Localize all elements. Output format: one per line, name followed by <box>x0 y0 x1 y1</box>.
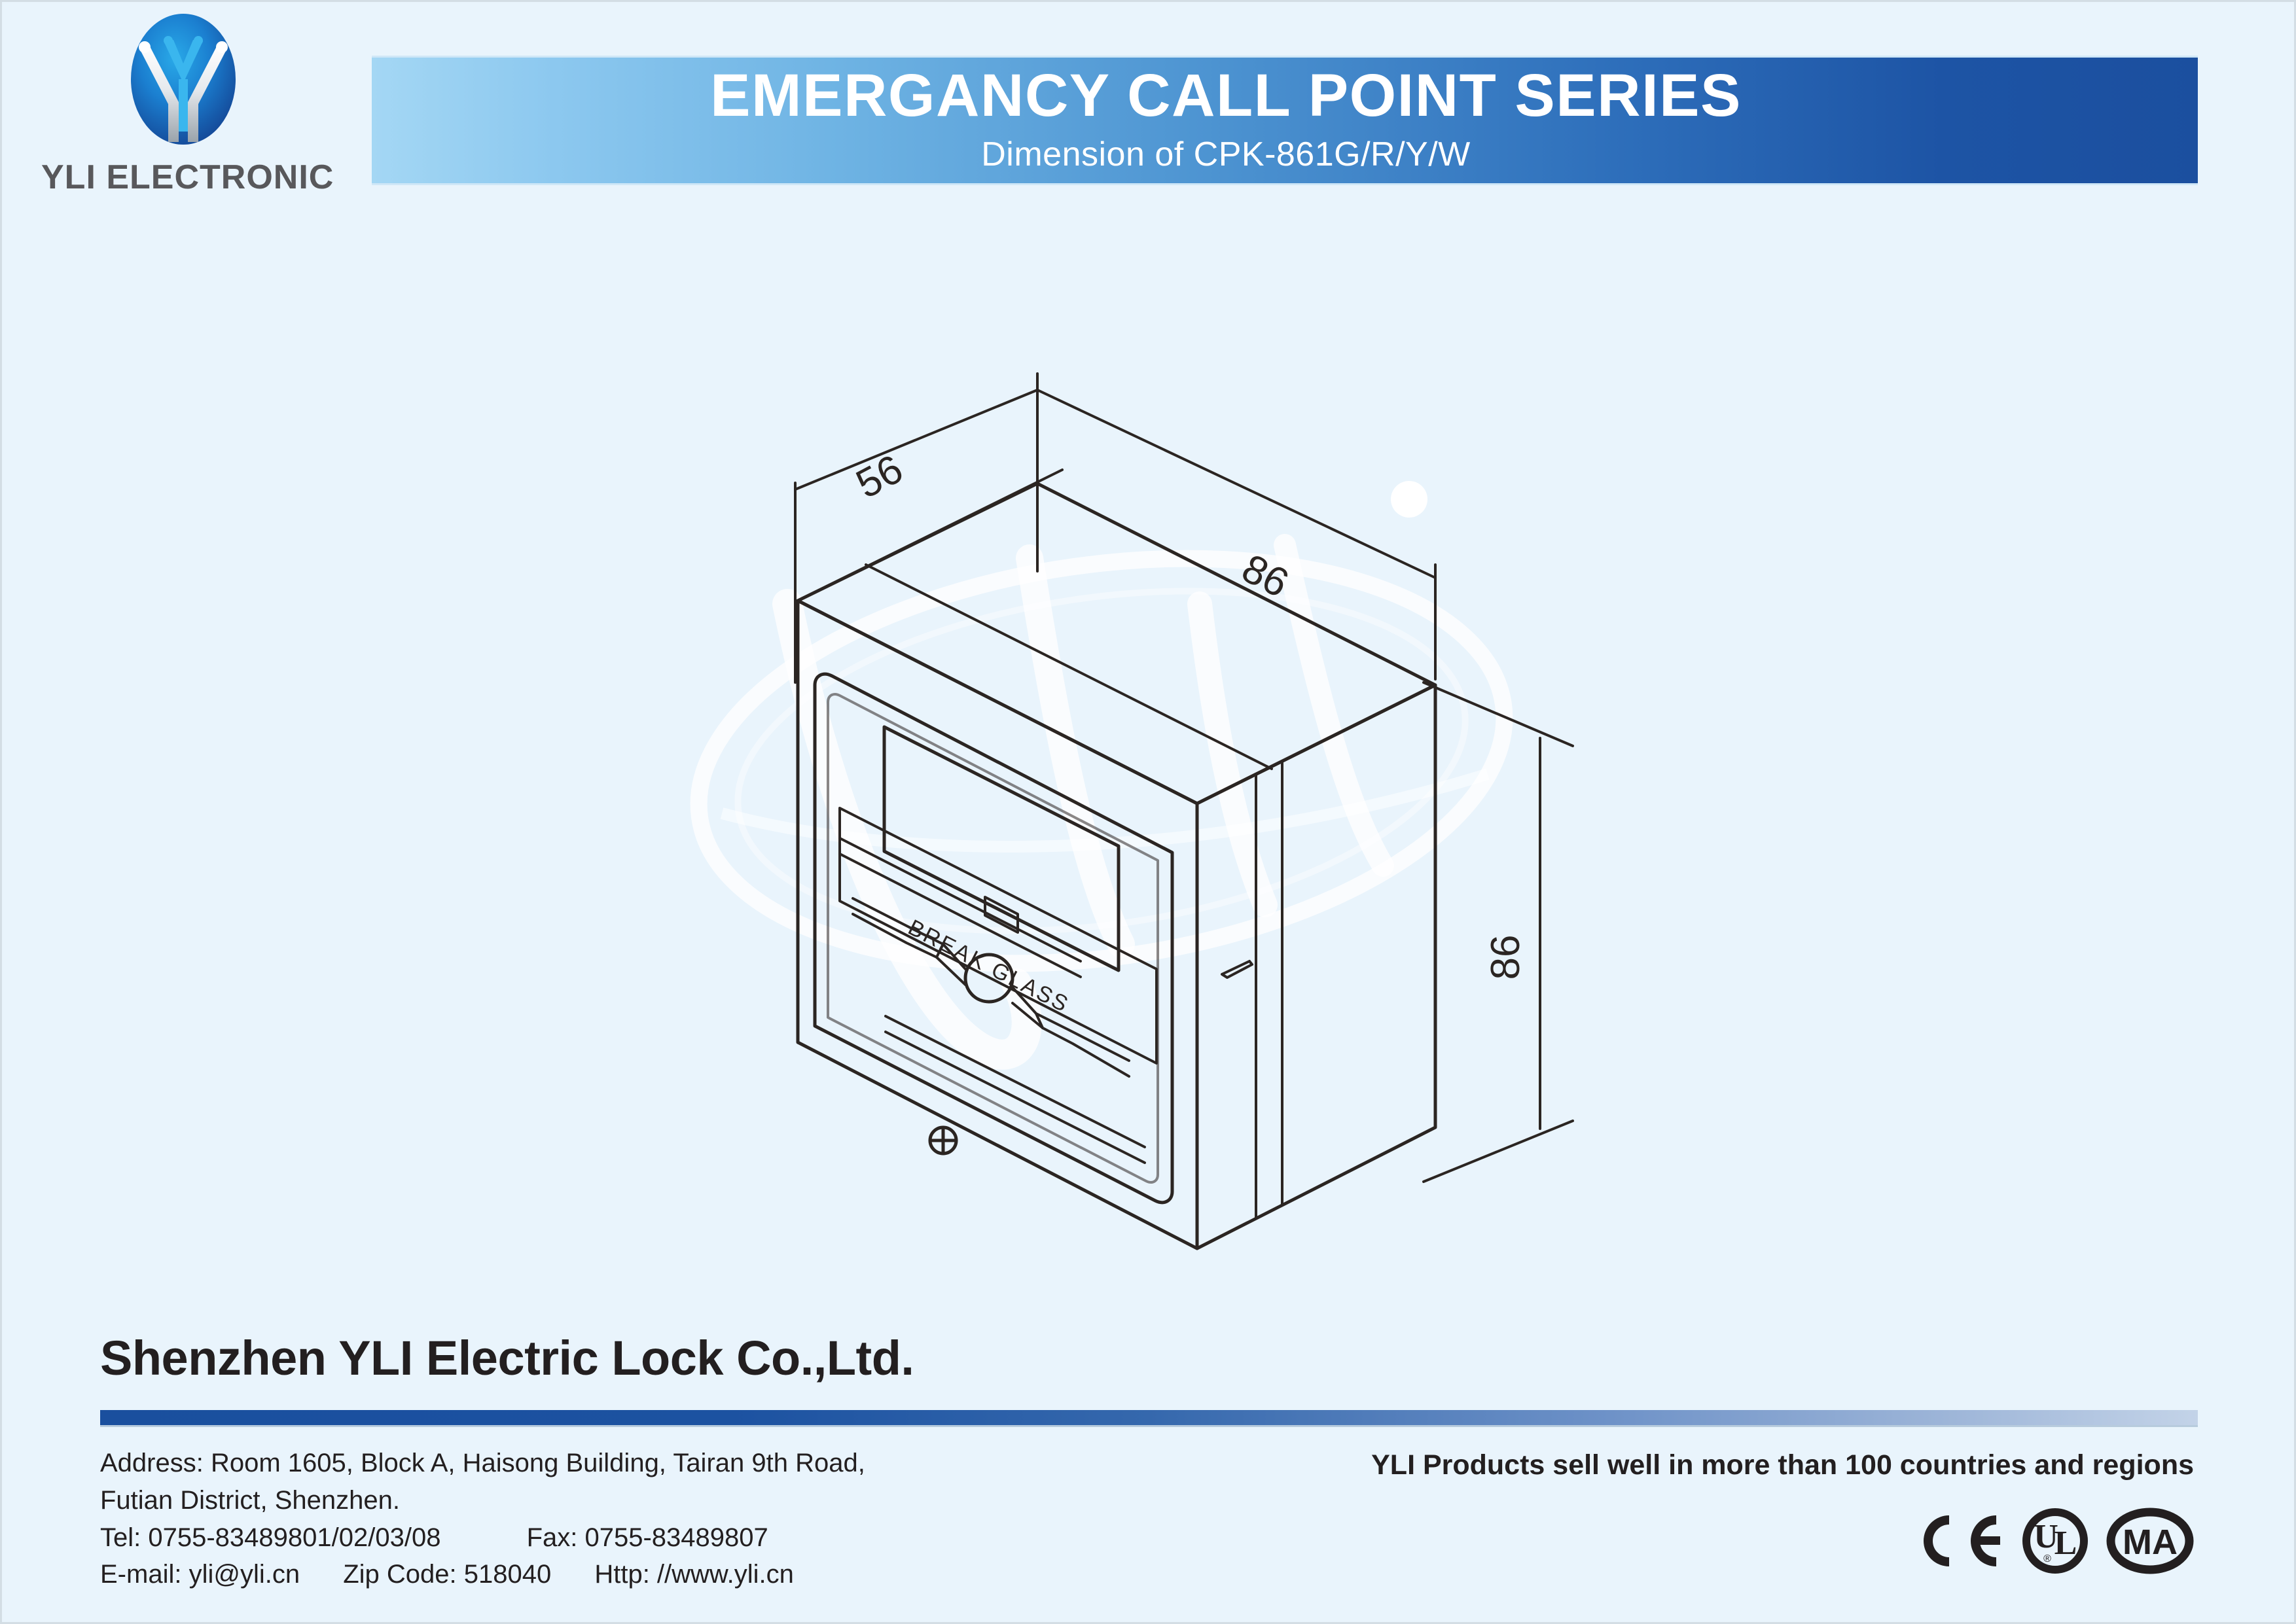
svg-text:L: L <box>2054 1525 2077 1562</box>
ce-mark-icon <box>1918 1509 2004 1572</box>
address-line-2: Futian District, Shenzhen. <box>100 1482 865 1519</box>
certification-marks: U L ® MA <box>1918 1507 2194 1575</box>
tel-label: Tel: 0755-83489801/02/03/08 <box>100 1523 440 1552</box>
address-line-1: Address: Room 1605, Block A, Haisong Bui… <box>100 1445 865 1482</box>
marketing-tagline: YLI Products sell well in more than 100 … <box>1371 1449 2194 1481</box>
ma-mark-icon: MA <box>2106 1507 2194 1575</box>
company-name: Shenzhen YLI Electric Lock Co.,Ltd. <box>100 1330 914 1386</box>
website-label[interactable]: Http: //www.yli.cn <box>594 1556 794 1593</box>
screw-icon <box>930 1127 956 1154</box>
yli-y-ellipse-logo-icon <box>128 14 239 154</box>
svg-text:MA: MA <box>2123 1523 2178 1562</box>
svg-text:®: ® <box>2043 1553 2051 1564</box>
header-banner: EMERGANCY CALL POINT SERIES Dimension of… <box>372 56 2198 185</box>
contact-block: Address: Room 1605, Block A, Haisong Bui… <box>100 1445 865 1593</box>
email-label[interactable]: E-mail: yli@yli.cn <box>100 1560 300 1589</box>
dimension-label-width: 86 <box>1235 546 1296 607</box>
brand-logo: YLI ELECTRONIC <box>41 9 323 198</box>
datasheet-page: YLI ELECTRONIC EMERGANCY CALL POINT SERI… <box>0 0 2296 1624</box>
dimension-label-depth: 56 <box>849 446 910 507</box>
page-subtitle: Dimension of CPK-861G/R/Y/W <box>372 135 2080 174</box>
footer-divider <box>100 1410 2198 1427</box>
page-title: EMERGANCY CALL POINT SERIES <box>372 65 2080 126</box>
fax-label: Fax: 0755-83489807 <box>527 1519 768 1557</box>
zip-label: Zip Code: 518040 <box>343 1556 551 1593</box>
product-dimension-drawing: BREAK GLASS 56 86 86 <box>755 368 1605 1284</box>
phone-line: Tel: 0755-83489801/02/03/08 Fax: 0755-83… <box>100 1519 865 1557</box>
dimension-label-height: 86 <box>1483 935 1528 980</box>
web-line: E-mail: yli@yli.cn Zip Code: 518040 Http… <box>100 1556 865 1593</box>
ul-mark-icon: U L ® <box>2021 1507 2089 1575</box>
brand-wordmark: YLI ELECTRONIC <box>41 158 323 197</box>
